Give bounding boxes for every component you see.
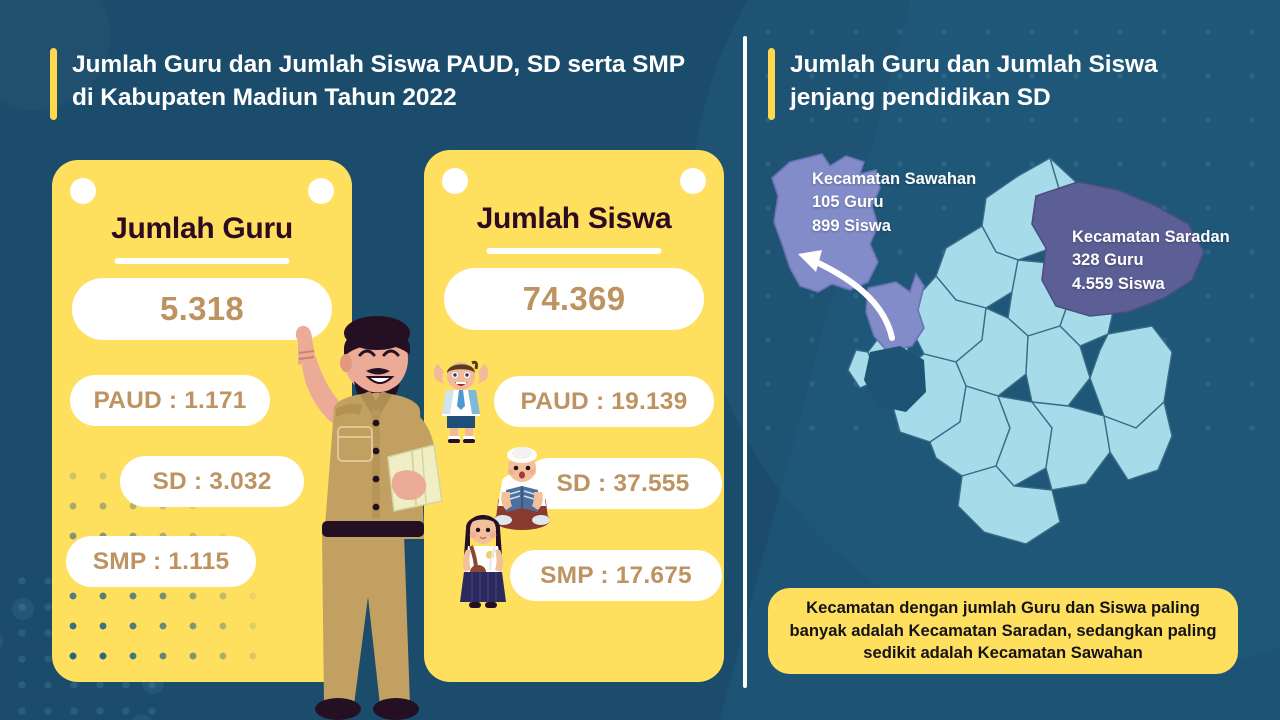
map-label-saradan-guru: 328 Guru [1072, 249, 1230, 272]
siswa-total-value: 74.369 [444, 268, 704, 330]
guru-paud-value: PAUD : 1.171 [70, 375, 270, 426]
map-district-sawahan [866, 274, 924, 352]
madiun-regency-map: Kecamatan Sawahan 105 Guru 899 Siswa Kec… [760, 140, 1270, 570]
summary-note-text: Kecamatan dengan jumlah Guru dan Siswa p… [782, 597, 1224, 664]
student-boy-illustration-icon [428, 358, 494, 444]
card-title-underline [487, 248, 662, 254]
heading-accent-bar [50, 48, 57, 120]
card-guru-title: Jumlah Guru [52, 212, 352, 246]
right-section-heading: Jumlah Guru dan Jumlah Siswa jenjang pen… [768, 48, 1238, 120]
summary-note-box: Kecamatan dengan jumlah Guru dan Siswa p… [768, 588, 1238, 674]
siswa-paud-value: PAUD : 19.139 [494, 376, 714, 427]
card-title-underline [115, 258, 290, 264]
map-label-saradan: Kecamatan Saradan 328 Guru 4.559 Siswa [1072, 226, 1230, 296]
card-hole-right-icon [308, 178, 334, 204]
guru-smp-value: SMP : 1.115 [66, 536, 256, 587]
card-hole-right-icon [680, 168, 706, 194]
card-siswa-title: Jumlah Siswa [424, 202, 724, 236]
left-section-heading: Jumlah Guru dan Jumlah Siswa PAUD, SD se… [50, 48, 710, 120]
left-title-text: Jumlah Guru dan Jumlah Siswa PAUD, SD se… [72, 48, 710, 114]
vertical-divider [743, 36, 747, 688]
siswa-smp-value: SMP : 17.675 [510, 550, 722, 601]
map-label-sawahan: Kecamatan Sawahan 105 Guru 899 Siswa [812, 168, 976, 238]
card-hole-left-icon [442, 168, 468, 194]
student-girl-illustration-icon [452, 510, 514, 610]
map-label-sawahan-siswa: 899 Siswa [812, 215, 976, 238]
map-label-sawahan-name: Kecamatan Sawahan [812, 168, 976, 191]
map-label-saradan-siswa: 4.559 Siswa [1072, 273, 1230, 296]
heading-accent-bar [768, 48, 775, 120]
map-label-sawahan-guru: 105 Guru [812, 191, 976, 214]
map-label-saradan-name: Kecamatan Saradan [1072, 226, 1230, 249]
right-title-text: Jumlah Guru dan Jumlah Siswa jenjang pen… [790, 48, 1238, 114]
card-hole-left-icon [70, 178, 96, 204]
